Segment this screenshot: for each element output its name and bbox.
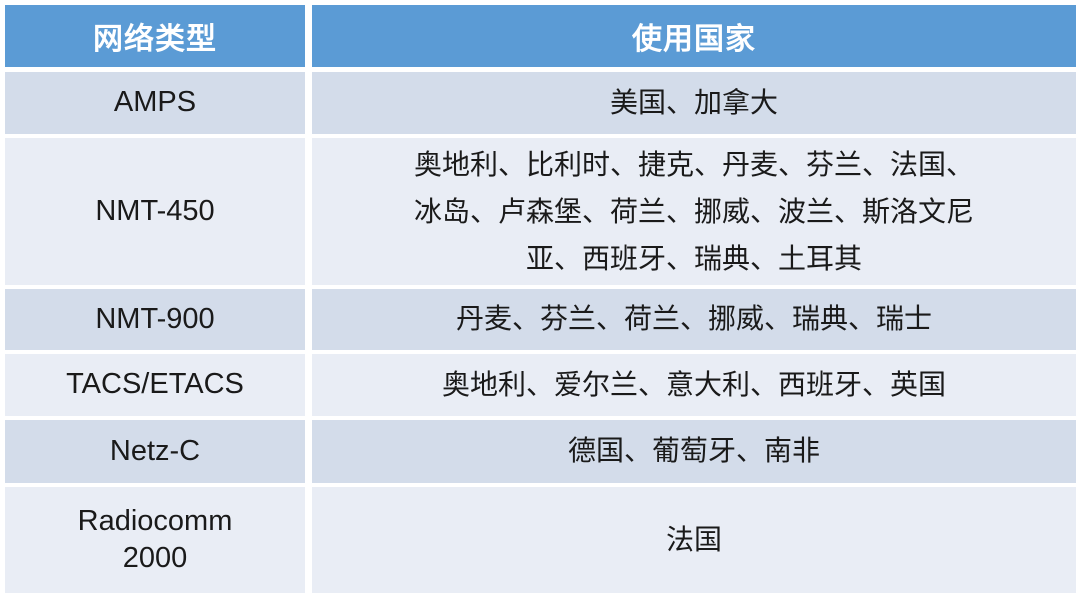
countries-label: 德国、葡萄牙、南非 (554, 430, 834, 473)
table-row: NMT-450 奥地利、比利时、捷克、丹麦、芬兰、法国、 冰岛、卢森堡、荷兰、挪… (5, 138, 1076, 285)
column-header-countries: 使用国家 (312, 5, 1076, 67)
network-type-label: TACS/ETACS (66, 367, 244, 402)
cell-network-type: AMPS (5, 72, 305, 134)
countries-label: 奥地利、比利时、捷克、丹麦、芬兰、法国、 冰岛、卢森堡、荷兰、挪威、波兰、斯洛文… (400, 141, 988, 282)
cell-countries: 美国、加拿大 (312, 72, 1076, 134)
network-type-label: Netz-C (110, 434, 200, 469)
table-row: NMT-900 丹麦、芬兰、荷兰、挪威、瑞典、瑞士 (5, 289, 1076, 350)
cell-network-type: NMT-450 (5, 138, 305, 285)
column-header-network-type-label: 网络类型 (93, 14, 217, 58)
countries-label: 美国、加拿大 (596, 82, 792, 125)
table-row: AMPS 美国、加拿大 (5, 72, 1076, 134)
cell-countries: 奥地利、比利时、捷克、丹麦、芬兰、法国、 冰岛、卢森堡、荷兰、挪威、波兰、斯洛文… (312, 138, 1076, 285)
network-type-label: NMT-900 (95, 302, 214, 337)
network-type-label: NMT-450 (95, 194, 214, 229)
countries-label: 法国 (652, 519, 736, 562)
cell-network-type: Radiocomm 2000 (5, 487, 305, 593)
countries-label: 丹麦、芬兰、荷兰、挪威、瑞典、瑞士 (442, 298, 946, 341)
cell-network-type: NMT-900 (5, 289, 305, 350)
cell-countries: 奥地利、爱尔兰、意大利、西班牙、英国 (312, 354, 1076, 416)
table-header-row: 网络类型 使用国家 (5, 5, 1076, 67)
table-row: TACS/ETACS 奥地利、爱尔兰、意大利、西班牙、英国 (5, 354, 1076, 416)
cell-countries: 丹麦、芬兰、荷兰、挪威、瑞典、瑞士 (312, 289, 1076, 350)
countries-label: 奥地利、爱尔兰、意大利、西班牙、英国 (428, 364, 960, 407)
table-row: Radiocomm 2000 法国 (5, 487, 1076, 593)
cell-countries: 法国 (312, 487, 1076, 593)
cell-network-type: TACS/ETACS (5, 354, 305, 416)
network-types-table: 网络类型 使用国家 AMPS 美国、加拿大 NMT-450 奥地利、比利时、捷克… (0, 0, 1080, 586)
network-type-label: AMPS (114, 85, 196, 120)
table-row: Netz-C 德国、葡萄牙、南非 (5, 420, 1076, 483)
cell-network-type: Netz-C (5, 420, 305, 483)
column-header-countries-label: 使用国家 (632, 14, 756, 58)
cell-countries: 德国、葡萄牙、南非 (312, 420, 1076, 483)
network-type-label: Radiocomm 2000 (78, 503, 233, 577)
column-header-network-type: 网络类型 (5, 5, 305, 67)
